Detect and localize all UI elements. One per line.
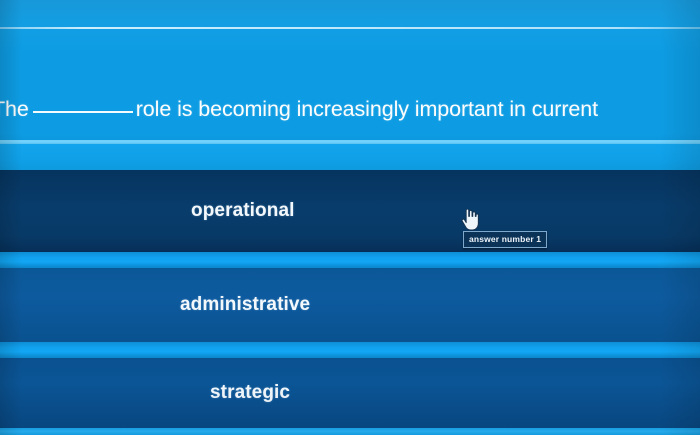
answer-option-2-label: administrative	[180, 294, 310, 316]
question-suffix: role is becoming increasingly important …	[136, 97, 598, 121]
answer-option-1-label: operational	[191, 200, 295, 222]
question-answers-gap	[0, 144, 700, 170]
answer-separator-2	[0, 342, 700, 358]
quiz-screen: Therole is becoming increasingly importa…	[0, 0, 700, 435]
answer-option-3-label: strategic	[210, 382, 290, 404]
answer-option-1[interactable]: operational	[0, 170, 700, 252]
answer-separator-1	[0, 252, 700, 268]
bottom-edge-band	[0, 428, 700, 435]
answer-option-2[interactable]: administrative	[0, 268, 700, 342]
panel-top-divider	[0, 27, 700, 29]
question-line-1: Therole is becoming increasingly importa…	[0, 94, 700, 124]
question-prefix: The	[0, 97, 29, 121]
answer-tooltip: answer number 1	[463, 231, 547, 248]
answer-list: operational administrative strategic	[0, 170, 700, 435]
question-blank	[33, 111, 133, 113]
answer-option-3[interactable]: strategic	[0, 358, 700, 428]
question-panel: Therole is becoming increasingly importa…	[0, 0, 700, 145]
